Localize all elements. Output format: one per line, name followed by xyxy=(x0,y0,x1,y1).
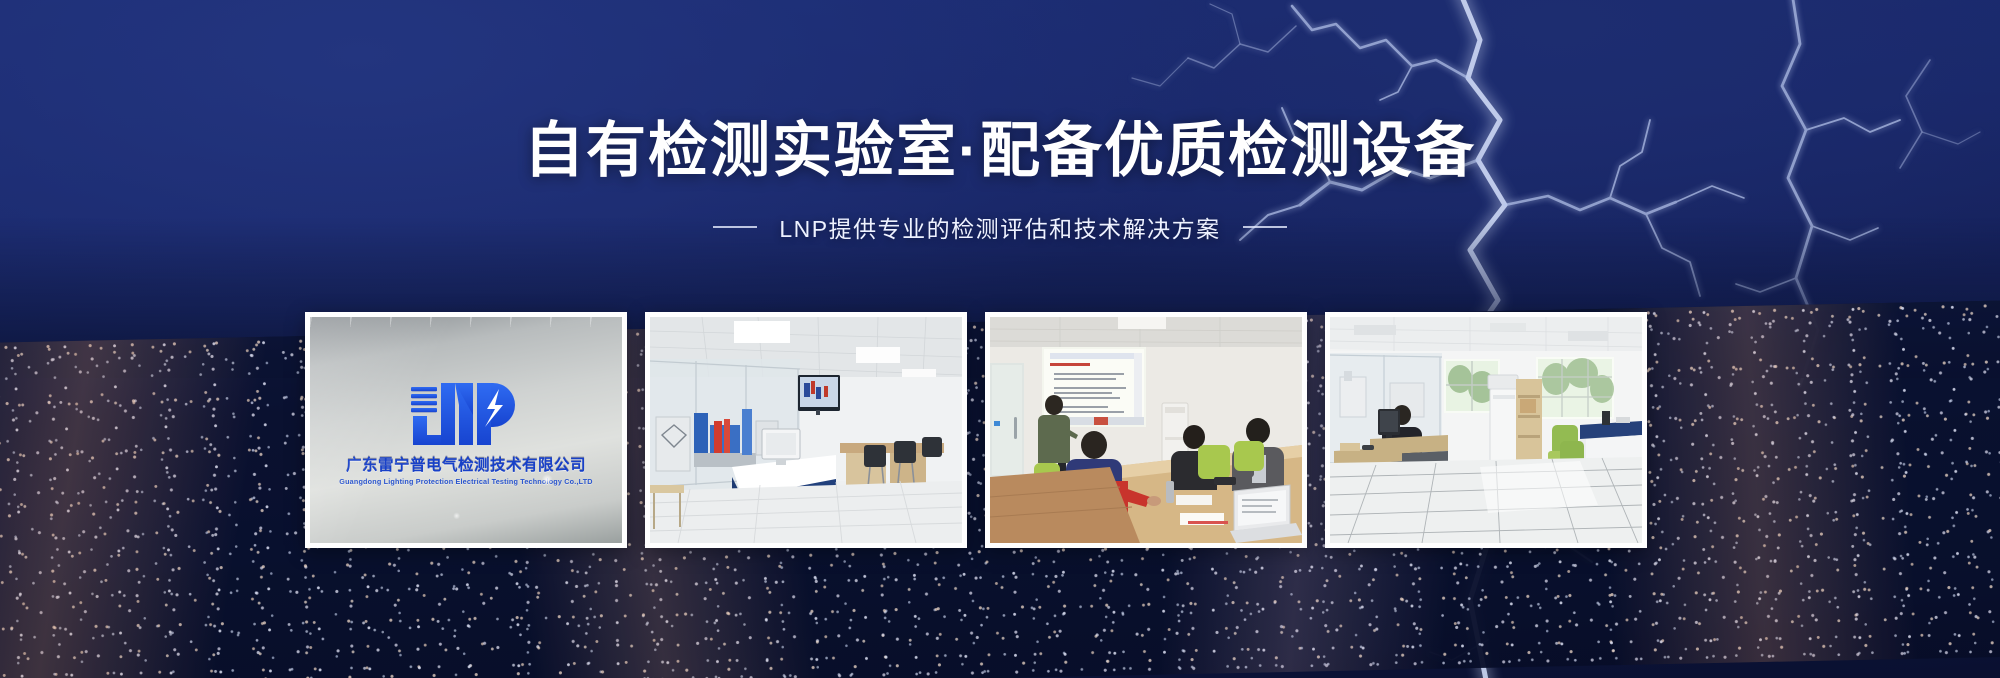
signage-company-name-en: Guangdong Lighting Protection Electrical… xyxy=(339,477,592,486)
photo-testing-laboratory xyxy=(650,317,962,543)
thumbnail-office-workspace[interactable] xyxy=(1325,312,1647,548)
rule-right-icon xyxy=(1243,226,1287,228)
hero-banner: 自有检测实验室·配备优质检测设备 LNP提供专业的检测评估和技术解决方案 xyxy=(0,0,2000,678)
photo-meeting-room xyxy=(990,317,1302,543)
photo-office-workspace xyxy=(1330,317,1642,543)
photo-company-signage: 广东雷宁普电气检测技术有限公司 Guangdong Lighting Prote… xyxy=(310,317,622,543)
page-title: 自有检测实验室·配备优质检测设备 xyxy=(0,118,2000,184)
lnp-logo-icon xyxy=(407,375,525,449)
thumbnail-company-signage[interactable]: 广东雷宁普电气检测技术有限公司 Guangdong Lighting Prote… xyxy=(305,312,627,548)
thumbnail-testing-laboratory[interactable] xyxy=(645,312,967,548)
page-subtitle: LNP提供专业的检测评估和技术解决方案 xyxy=(779,210,1220,244)
office-illustration xyxy=(1330,317,1642,543)
thumbnail-meeting-room[interactable] xyxy=(985,312,1307,548)
meeting-room-illustration xyxy=(990,317,1302,543)
subtitle-row: LNP提供专业的检测评估和技术解决方案 xyxy=(0,210,2000,244)
hero-text-block: 自有检测实验室·配备优质检测设备 LNP提供专业的检测评估和技术解决方案 xyxy=(0,118,2000,244)
signage-company-name-cn: 广东雷宁普电气检测技术有限公司 xyxy=(346,453,586,475)
thumbnail-strip: 广东雷宁普电气检测技术有限公司 Guangdong Lighting Prote… xyxy=(305,312,1647,548)
rule-left-icon xyxy=(713,226,757,228)
laboratory-illustration xyxy=(650,317,962,543)
